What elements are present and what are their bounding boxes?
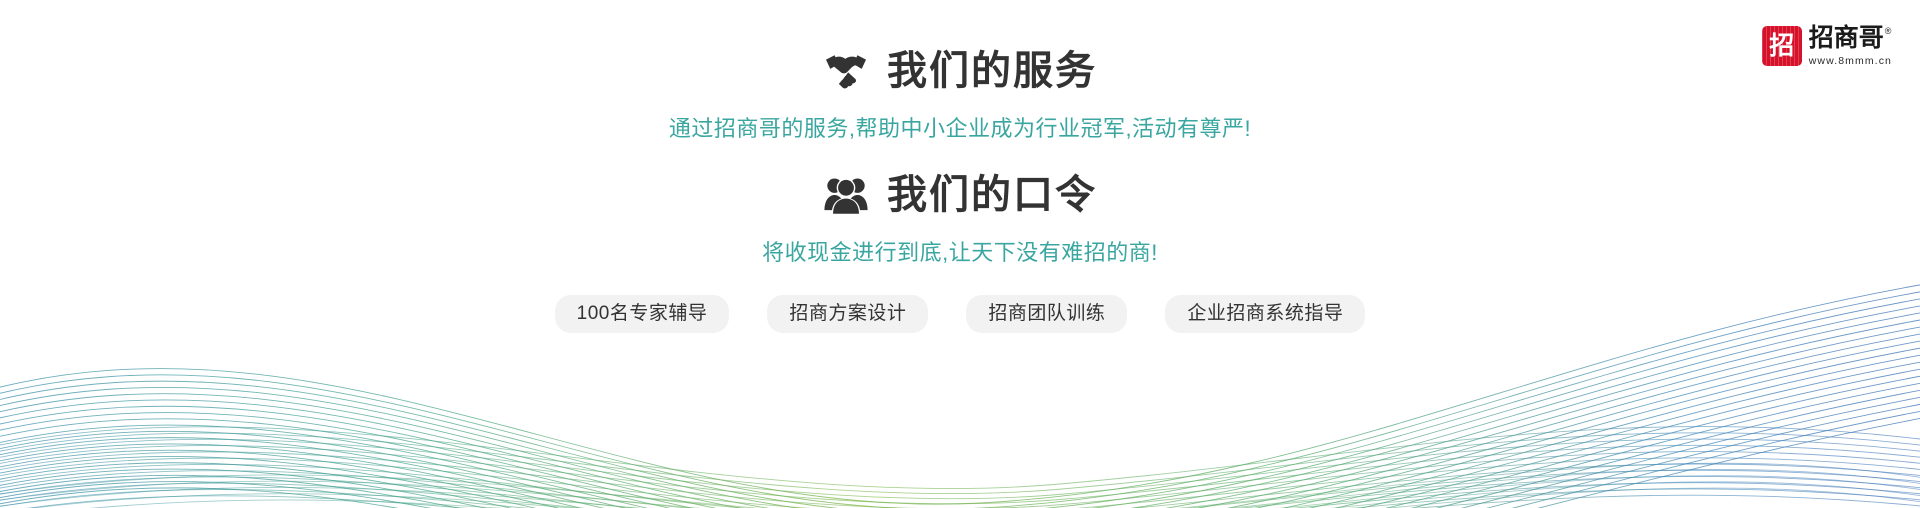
section-heading-slogan: 我们的口令 xyxy=(0,172,1920,218)
service-tag[interactable]: 100名专家辅导 xyxy=(555,295,730,333)
service-tag-row: 100名专家辅导 招商方案设计 招商团队训练 企业招商系统指导 xyxy=(0,295,1920,333)
promo-banner: 招 招商哥 ® www.8mmm.cn 我们的服 xyxy=(0,0,1920,508)
section-title: 我们的服务 xyxy=(887,49,1097,93)
handshake-icon xyxy=(823,48,869,94)
service-tag[interactable]: 企业招商系统指导 xyxy=(1165,295,1365,333)
service-tag[interactable]: 招商方案设计 xyxy=(767,295,928,333)
section-subtitle-services: 通过招商哥的服务,帮助中小企业成为行业冠军,活动有尊严! xyxy=(0,116,1920,142)
section-title: 我们的口令 xyxy=(887,173,1097,217)
section-subtitle-slogan: 将收现金进行到底,让天下没有难招的商! xyxy=(0,240,1920,266)
banner-content: 我们的服务 通过招商哥的服务,帮助中小企业成为行业冠军,活动有尊严! 我们的口令… xyxy=(0,0,1920,333)
service-tag[interactable]: 招商团队训练 xyxy=(966,295,1127,333)
section-heading-services: 我们的服务 xyxy=(0,48,1920,94)
people-group-icon xyxy=(823,172,869,218)
